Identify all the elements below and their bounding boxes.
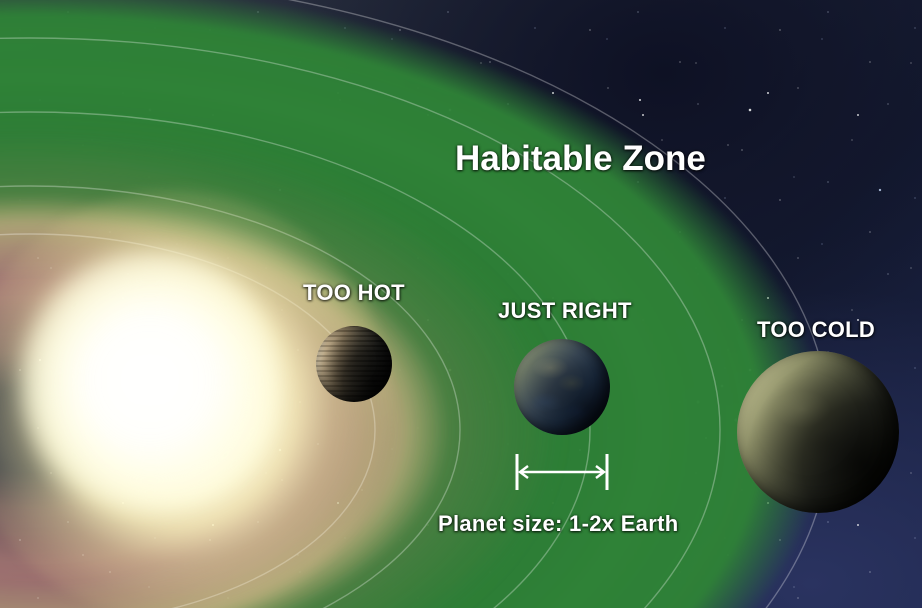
planet-too-hot xyxy=(316,326,392,402)
planet-too-cold xyxy=(737,351,899,513)
zone-label-just-right: JUST RIGHT xyxy=(498,298,632,324)
habitable-zone-infographic: Habitable Zone TOO HOT JUST RIGHT TOO CO… xyxy=(0,0,922,608)
planet-terminator-shadow xyxy=(514,339,610,435)
page-title: Habitable Zone xyxy=(455,139,706,179)
planet-size-caption: Planet size: 1-2x Earth xyxy=(438,511,678,537)
planet-terminator-shadow xyxy=(316,326,392,402)
zone-label-too-cold: TOO COLD xyxy=(757,317,875,343)
star-core xyxy=(20,250,280,510)
planet-terminator-shadow xyxy=(737,351,899,513)
planet-size-measure-bar xyxy=(514,452,610,492)
zone-label-too-hot: TOO HOT xyxy=(303,280,405,306)
planet-just-right xyxy=(514,339,610,435)
